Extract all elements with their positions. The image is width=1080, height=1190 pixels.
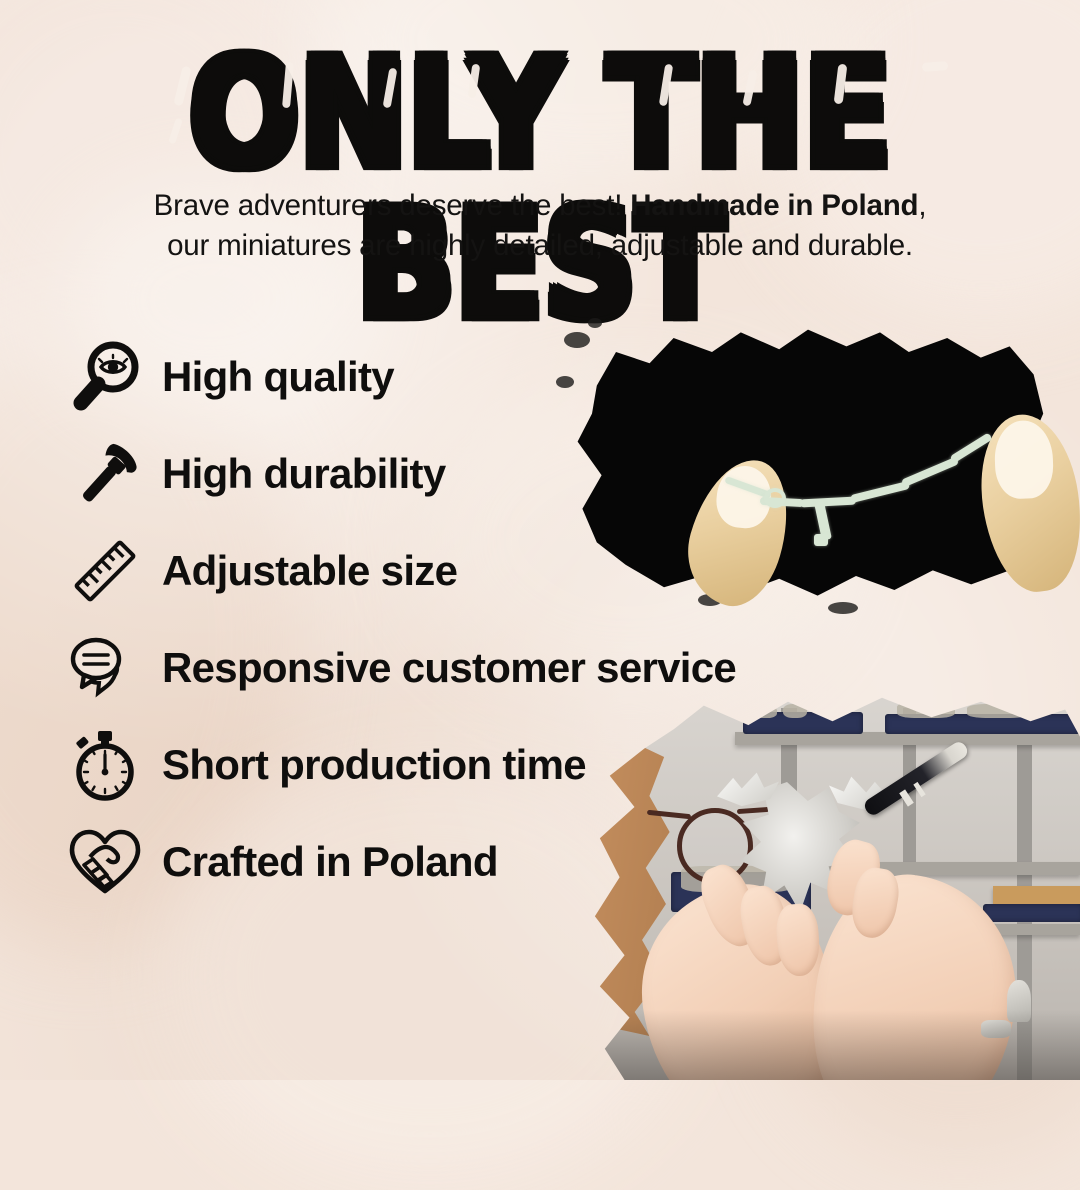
feature-label: Responsive customer service: [162, 644, 736, 692]
subtitle-bold-handmade: Handmade in Poland: [630, 189, 918, 222]
subtitle-comma: ,: [918, 189, 926, 222]
feature-label: High durability: [162, 450, 446, 498]
torn-black-backdrop: [568, 324, 1048, 604]
feature-item-customer-service: Responsive customer service: [62, 619, 802, 716]
speech-bubbles-icon: [62, 625, 148, 711]
feature-label: Short production time: [162, 741, 586, 789]
headline-gloss-9: [922, 61, 949, 72]
subtitle-lead: Brave adventurers deserve the best!: [154, 189, 631, 222]
stopwatch-icon: [62, 722, 148, 808]
subtitle-line2: our miniatures are highly detailed, adju…: [167, 229, 913, 262]
heart-handshake-icon: [62, 819, 148, 905]
magnifier-eye-icon: [62, 334, 148, 420]
subtitle: Brave adventurers deserve the best! Hand…: [0, 186, 1080, 267]
flexible-miniature-photo: [528, 306, 1080, 628]
ruler-icon: [62, 528, 148, 614]
feature-label: Crafted in Poland: [162, 838, 498, 886]
feature-label: Adjustable size: [162, 547, 457, 595]
workshop-painting-photo: [585, 690, 1080, 1080]
hammer-icon: [62, 431, 148, 517]
feature-label: High quality: [162, 353, 394, 401]
